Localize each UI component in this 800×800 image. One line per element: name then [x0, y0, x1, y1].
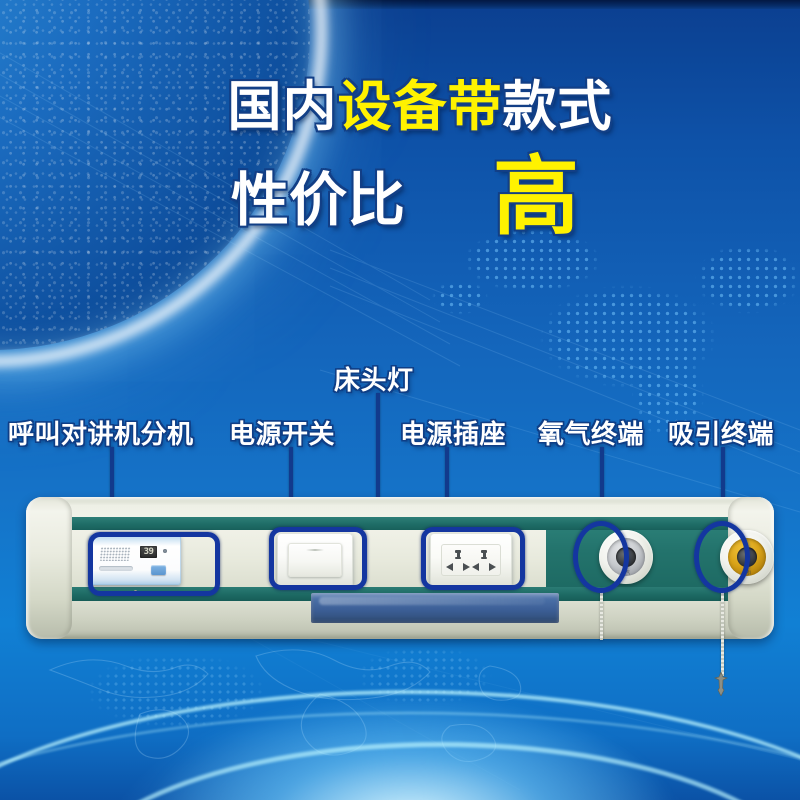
highlight-circle-oxygen-terminal: [573, 521, 629, 593]
callout-label-power-switch: 电源开关: [229, 414, 335, 451]
highlight-circle-suction-terminal: [694, 521, 750, 593]
suction-hose-cord: [721, 588, 724, 676]
oxygen-hose-cord: [600, 588, 603, 640]
highlight-box-power-socket: [421, 527, 525, 590]
banner-stage: 国内设备带款式 性价比高 呼叫对讲机分机 电源开关 床头灯 电源插座 氧气终端 …: [0, 0, 800, 800]
bed-head-lamp-diffuser: [311, 593, 559, 623]
callout-label-bed-head-lamp: 床头灯: [334, 360, 414, 397]
panel-end-cap-left: [26, 497, 72, 639]
diffuser-sheen: [319, 597, 545, 605]
callout-label-power-socket: 电源插座: [400, 414, 506, 451]
suction-probe-plug-icon: [714, 672, 728, 696]
highlight-box-power-switch: [269, 527, 367, 590]
callout-label-oxygen-terminal: 氧气终端: [538, 414, 644, 451]
highlight-box-call-intercom-extension: [88, 532, 220, 596]
callout-label-call-intercom-extension: 呼叫对讲机分机: [8, 414, 194, 451]
panel-stripe-top: [70, 517, 752, 530]
callout-label-suction-terminal: 吸引终端: [668, 414, 774, 451]
callout-layer: 呼叫对讲机分机 电源开关 床头灯 电源插座 氧气终端 吸引终端: [0, 0, 800, 800]
